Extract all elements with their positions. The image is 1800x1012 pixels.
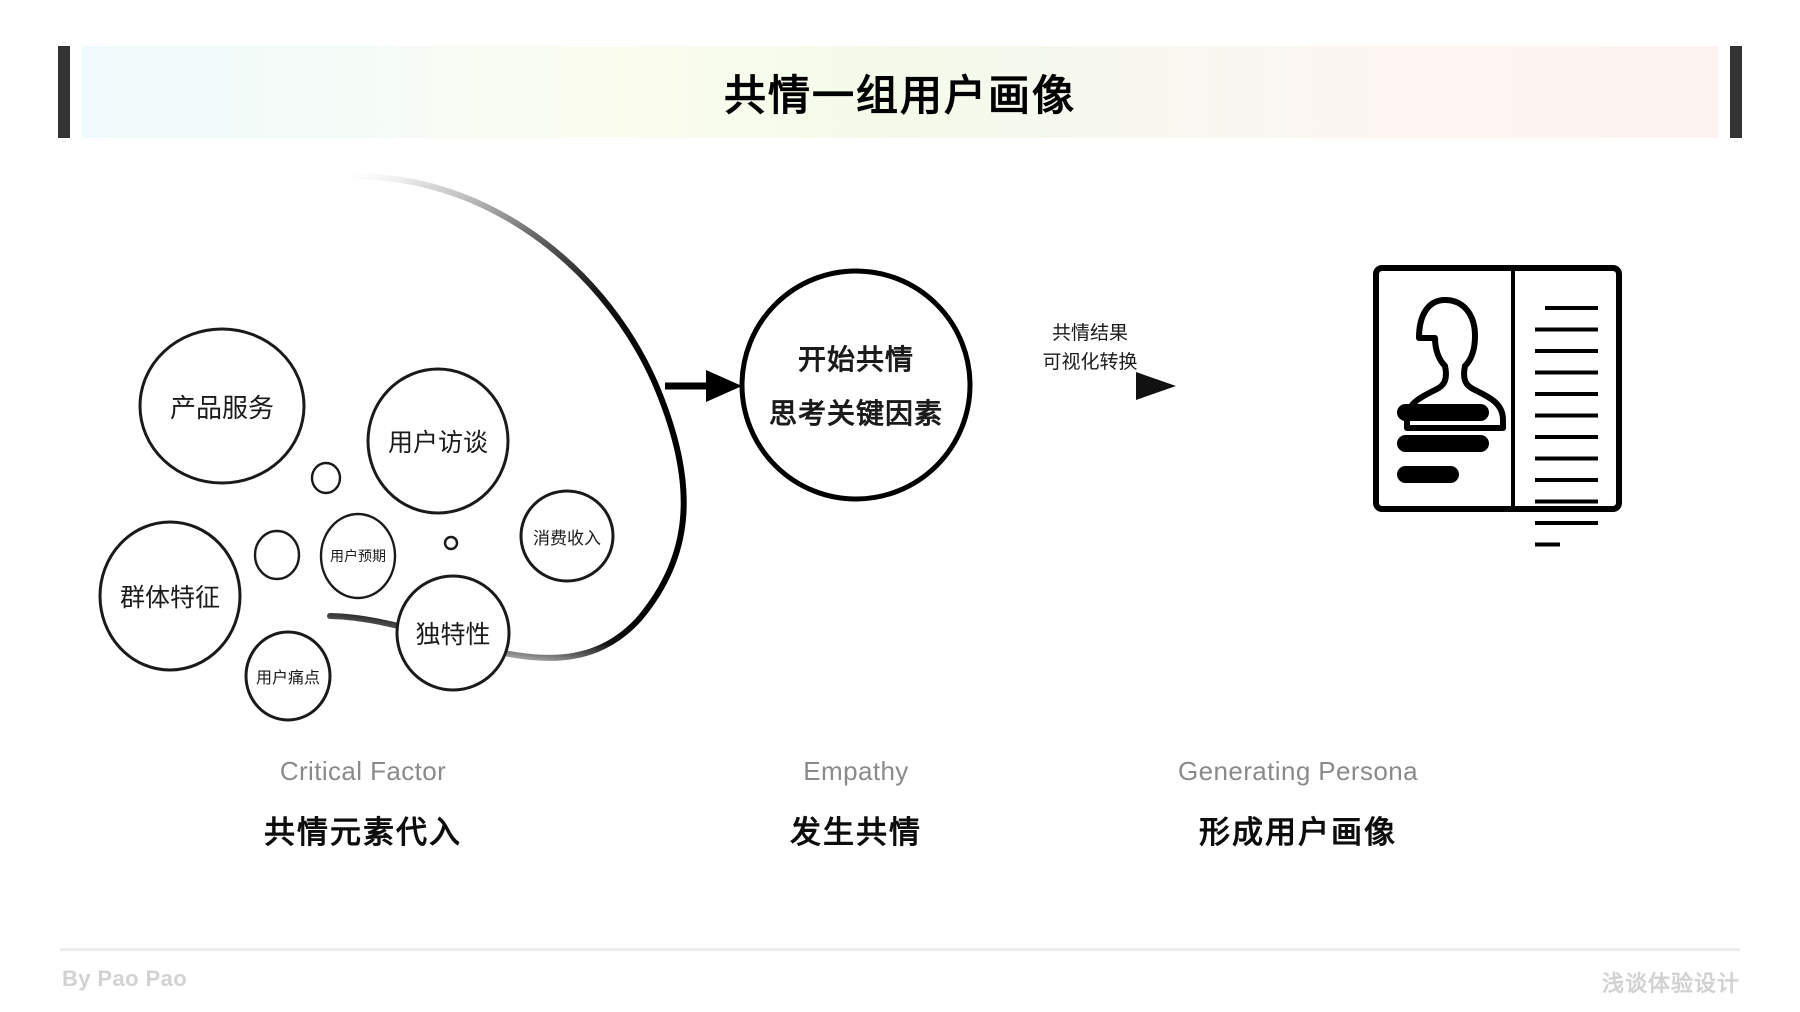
arrow-caption-line2: 可视化转换 xyxy=(1000,349,1180,378)
bubble-user-interview xyxy=(368,369,508,513)
bubble-user-expectation xyxy=(321,514,395,598)
footer-divider xyxy=(60,948,1740,951)
bubble-blank-small xyxy=(312,463,340,493)
bubble-consumer-income xyxy=(521,491,613,581)
bubble-uniqueness xyxy=(397,576,509,690)
caption-generating-persona: Generating Persona 形成用户画像 xyxy=(1098,756,1498,852)
bubble-group-traits xyxy=(100,522,240,670)
arrow-caption-line1: 共情结果 xyxy=(1000,320,1180,349)
persona-card xyxy=(1376,268,1619,545)
footer-brand: 浅谈体验设计 xyxy=(1602,966,1740,998)
persona-bar-0 xyxy=(1397,404,1489,421)
bubble-blank-tiny xyxy=(445,537,457,549)
caption-cn-0: 共情元素代入 xyxy=(163,807,563,852)
caption-empathy: Empathy 发生共情 xyxy=(656,756,1056,852)
bubble-blank-medium xyxy=(255,531,299,579)
caption-en-2: Generating Persona xyxy=(1098,756,1498,787)
bubble-product-service xyxy=(140,329,304,483)
caption-en-1: Empathy xyxy=(656,756,1056,787)
persona-bar-1 xyxy=(1397,435,1489,452)
bubble-user-painpoint xyxy=(246,632,330,720)
bubble-group xyxy=(100,329,613,720)
arrow-transform-caption: 共情结果 可视化转换 xyxy=(1000,320,1180,377)
caption-en-0: Critical Factor xyxy=(163,756,563,787)
diagram-stage: 产品服务用户访谈群体特征独特性消费收入用户预期用户痛点 开始共情 思考关键因素 … xyxy=(0,138,1800,928)
caption-cn-2: 形成用户画像 xyxy=(1098,807,1498,852)
empathy-circle xyxy=(742,271,970,499)
persona-bar-2 xyxy=(1397,466,1459,483)
page-title: 共情一组用户画像 xyxy=(0,46,1800,138)
caption-cn-1: 发生共情 xyxy=(656,807,1056,852)
footer-author: By Pao Pao xyxy=(62,966,187,992)
header-banner: 共情一组用户画像 xyxy=(0,46,1800,138)
arrow-cluster-to-empathy xyxy=(665,370,742,402)
caption-critical-factor: Critical Factor 共情元素代入 xyxy=(163,756,563,852)
